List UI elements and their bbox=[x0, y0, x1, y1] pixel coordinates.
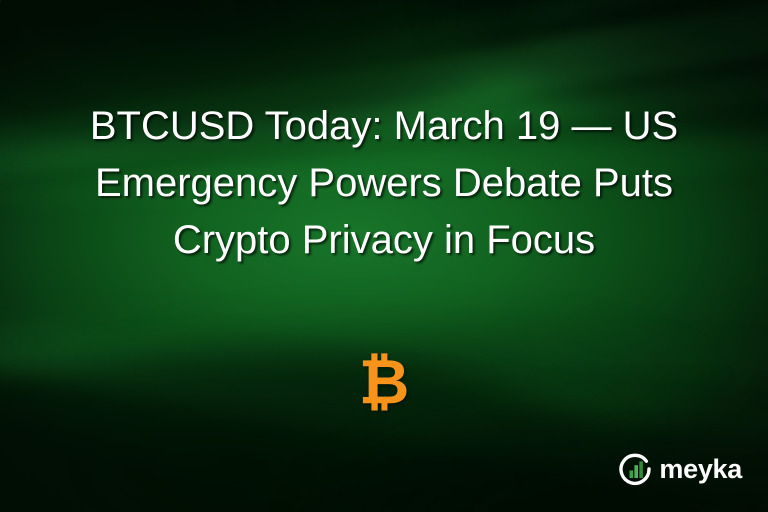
meyka-circle-bars-icon bbox=[619, 452, 653, 486]
brand-name: meyka bbox=[659, 456, 742, 483]
social-card: BTCUSD Today: March 19 — US Emergency Po… bbox=[0, 0, 768, 512]
brand-lockup: meyka bbox=[619, 452, 742, 486]
page-title: BTCUSD Today: March 19 — US Emergency Po… bbox=[34, 98, 734, 269]
bitcoin-symbol-icon: ₿ bbox=[359, 351, 410, 413]
card-content: BTCUSD Today: March 19 — US Emergency Po… bbox=[0, 0, 768, 512]
